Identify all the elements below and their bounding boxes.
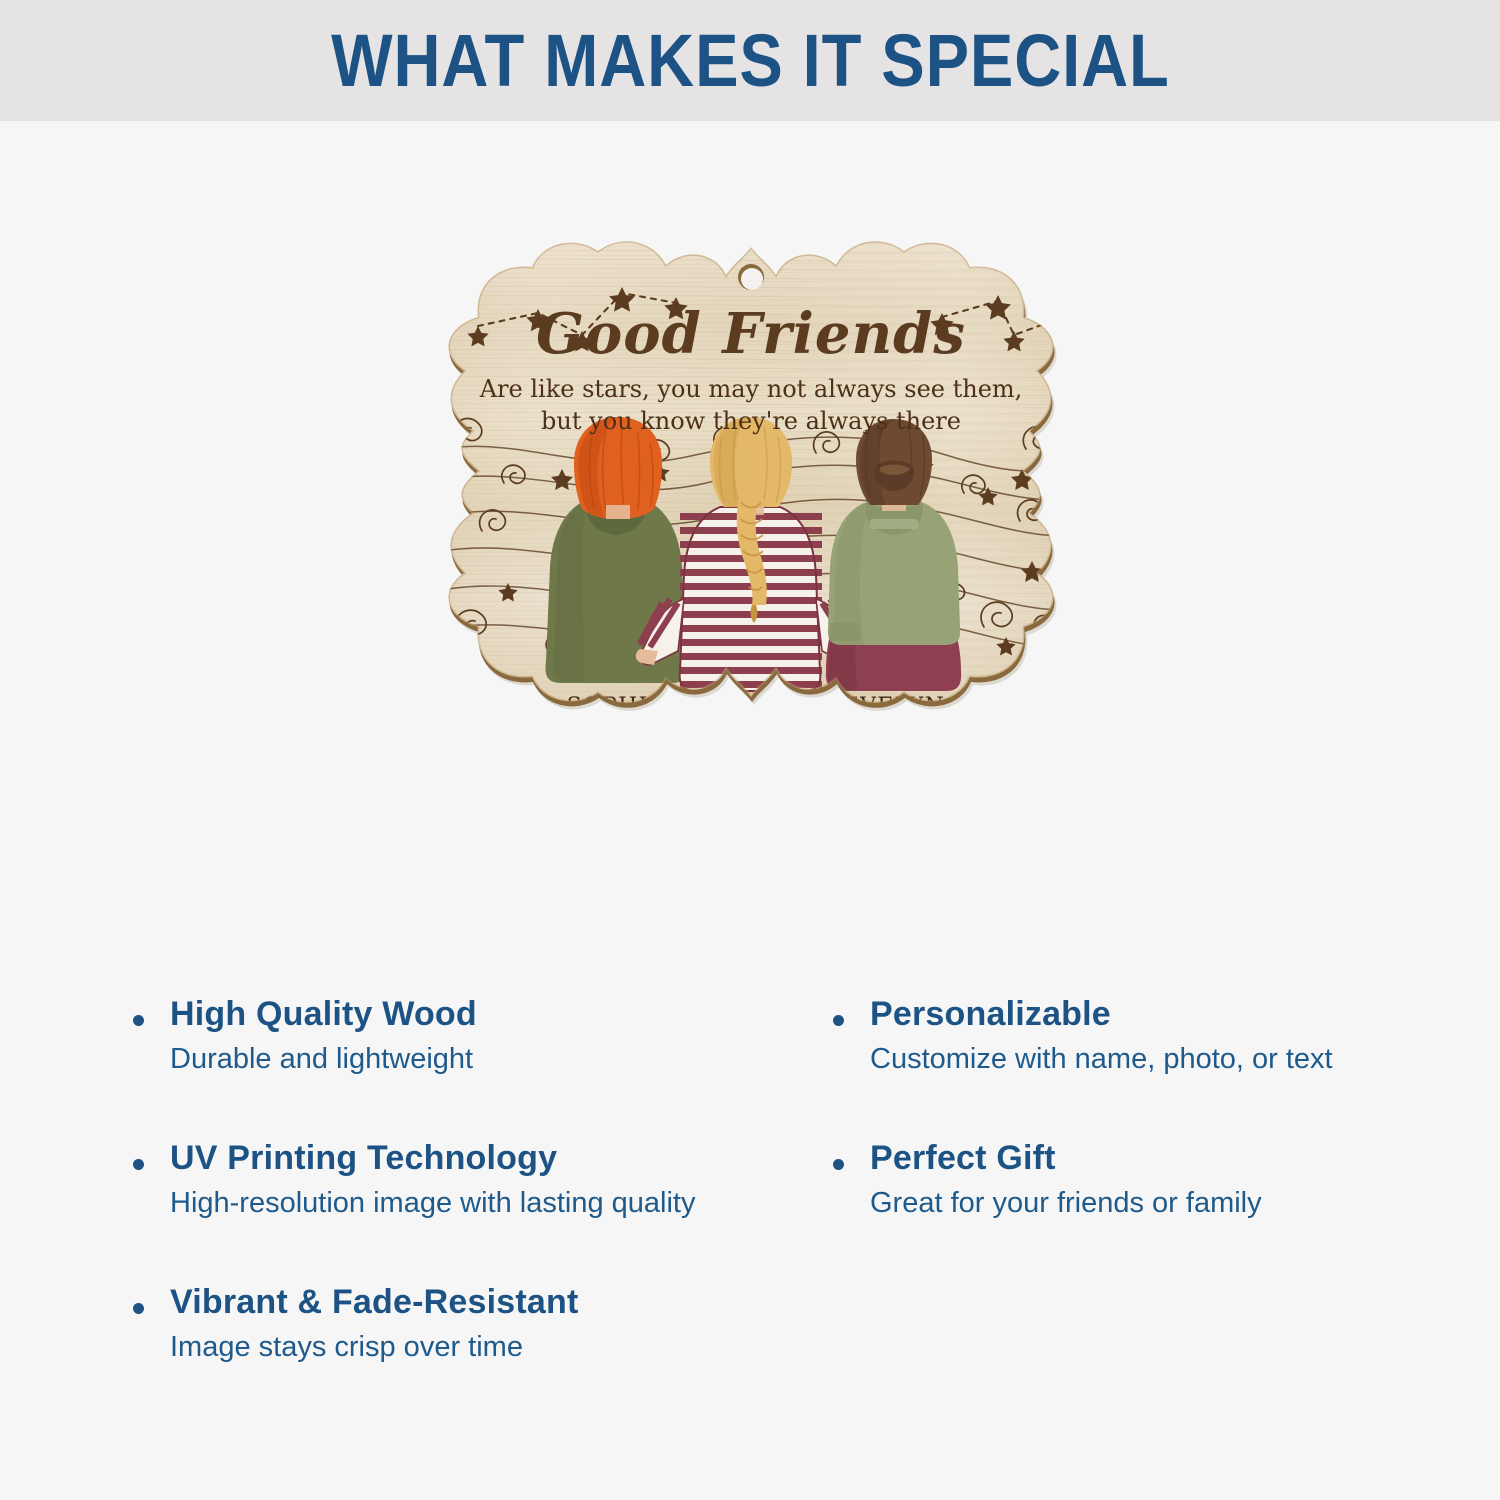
feature-title: High Quality Wood [170, 995, 828, 1034]
wooden-ornament: Good Friends Are like stars, you may not… [386, 231, 1116, 751]
ornament-illustration: Good Friends Are like stars, you may not… [386, 231, 1116, 751]
page-title: WHAT MAKES IT SPECIAL [331, 24, 1170, 98]
page-header: WHAT MAKES IT SPECIAL [0, 0, 1500, 121]
hanging-hole [738, 264, 764, 290]
feature-item: Vibrant & Fade-Resistant Image stays cri… [128, 1283, 828, 1365]
features-section: High Quality Wood Durable and lightweigh… [0, 995, 1500, 1425]
feature-description: Great for your friends or family [870, 1186, 1468, 1221]
feature-title: Perfect Gift [870, 1139, 1468, 1178]
bullet-dot-icon [133, 1159, 144, 1170]
feature-item: High Quality Wood Durable and lightweigh… [128, 995, 828, 1077]
feature-description: Durable and lightweight [170, 1042, 828, 1077]
feature-title: UV Printing Technology [170, 1139, 828, 1178]
ornament-heading: Good Friends [536, 301, 966, 367]
feature-title: Personalizable [870, 995, 1468, 1034]
feature-description: Customize with name, photo, or text [870, 1042, 1468, 1077]
bullet-dot-icon [133, 1015, 144, 1026]
ornament-quote-line-2: but you know they're always there [541, 407, 961, 435]
feature-item: UV Printing Technology High-resolution i… [128, 1139, 828, 1221]
feature-description: High-resolution image with lasting quali… [170, 1186, 828, 1221]
feature-description: Image stays crisp over time [170, 1330, 828, 1365]
ornament-quote-line-1: Are like stars, you may not always see t… [479, 375, 1023, 403]
bullet-dot-icon [833, 1015, 844, 1026]
bullet-dot-icon [133, 1303, 144, 1314]
bullet-dot-icon [833, 1159, 844, 1170]
feature-title: Vibrant & Fade-Resistant [170, 1283, 828, 1322]
features-left-column: High Quality Wood Durable and lightweigh… [128, 995, 828, 1427]
feature-item: Perfect Gift Great for your friends or f… [828, 1139, 1468, 1221]
features-right-column: Personalizable Customize with name, phot… [828, 995, 1468, 1283]
feature-item: Personalizable Customize with name, phot… [828, 995, 1468, 1077]
product-image-area: Good Friends Are like stars, you may not… [0, 121, 1500, 881]
